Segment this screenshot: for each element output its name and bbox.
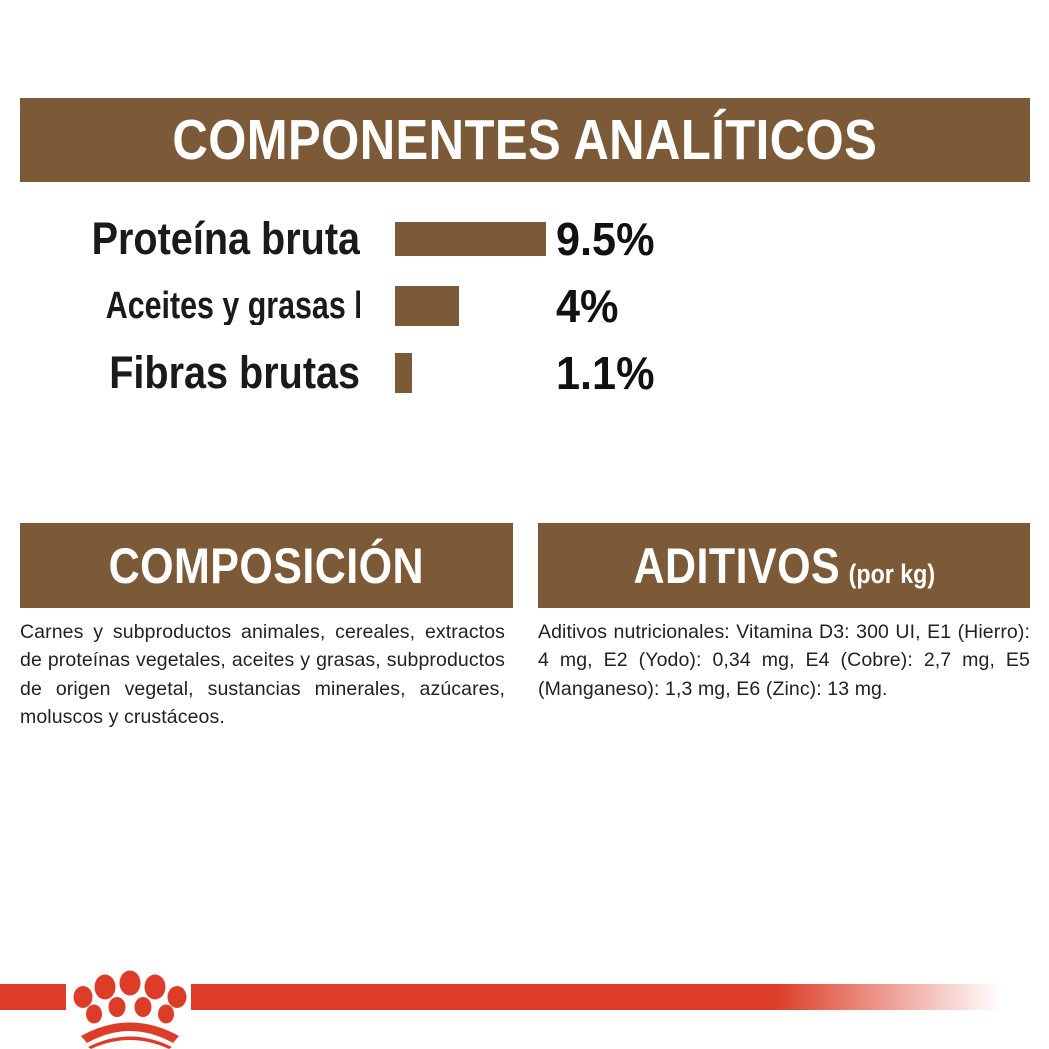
additives-title: ADITIVOS bbox=[633, 541, 840, 591]
footer-brand-bar bbox=[0, 963, 1049, 1049]
nutrient-bar bbox=[395, 353, 412, 393]
nutrient-bar bbox=[395, 286, 459, 326]
nutrient-bar-track bbox=[395, 222, 550, 256]
nutrient-value: 4% bbox=[556, 283, 618, 329]
analytical-constituents-chart: Proteína bruta 9.5% Aceites y grasas bru… bbox=[20, 205, 1030, 406]
additives-unit-suffix: (por kg) bbox=[848, 561, 934, 588]
nutrient-label-text: Fibras brutas bbox=[109, 350, 360, 395]
nutrient-bar-track bbox=[395, 353, 550, 393]
composition-title: COMPOSICIÓN bbox=[109, 541, 424, 591]
footer-rule-right bbox=[191, 984, 1001, 1010]
royal-canin-crown-icon bbox=[70, 963, 190, 1049]
footer-rule-left bbox=[0, 984, 66, 1010]
additives-body-text: Aditivos nutricionales: Vitamina D3: 300… bbox=[538, 618, 1030, 703]
composition-body-text: Carnes y subproductos animales, cereales… bbox=[20, 618, 505, 731]
nutrient-row: Aceites y grasas brutos 4% bbox=[20, 272, 1030, 339]
nutrient-label: Proteína bruta bbox=[20, 216, 360, 261]
nutrient-row: Proteína bruta 9.5% bbox=[20, 205, 1030, 272]
nutrient-bar bbox=[395, 222, 546, 256]
nutrient-value: 9.5% bbox=[556, 216, 655, 262]
nutrient-label-text: Aceites y grasas brutos bbox=[106, 287, 360, 325]
additives-banner: ADITIVOS (por kg) bbox=[538, 523, 1030, 608]
additives-title-group: ADITIVOS (por kg) bbox=[633, 541, 935, 591]
nutrient-bar-track bbox=[395, 286, 550, 326]
analytical-constituents-title: COMPONENTES ANALÍTICOS bbox=[173, 112, 878, 169]
nutrition-label-page: COMPONENTES ANALÍTICOS Proteína bruta 9.… bbox=[0, 0, 1049, 1049]
nutrient-label: Aceites y grasas brutos bbox=[20, 287, 360, 325]
nutrient-label-text: Proteína bruta bbox=[92, 216, 360, 261]
nutrient-row: Fibras brutas 1.1% bbox=[20, 339, 1030, 406]
nutrient-label: Fibras brutas bbox=[20, 350, 360, 395]
composition-banner: COMPOSICIÓN bbox=[20, 523, 513, 608]
nutrient-value: 1.1% bbox=[556, 350, 655, 396]
analytical-constituents-banner: COMPONENTES ANALÍTICOS bbox=[20, 98, 1030, 182]
